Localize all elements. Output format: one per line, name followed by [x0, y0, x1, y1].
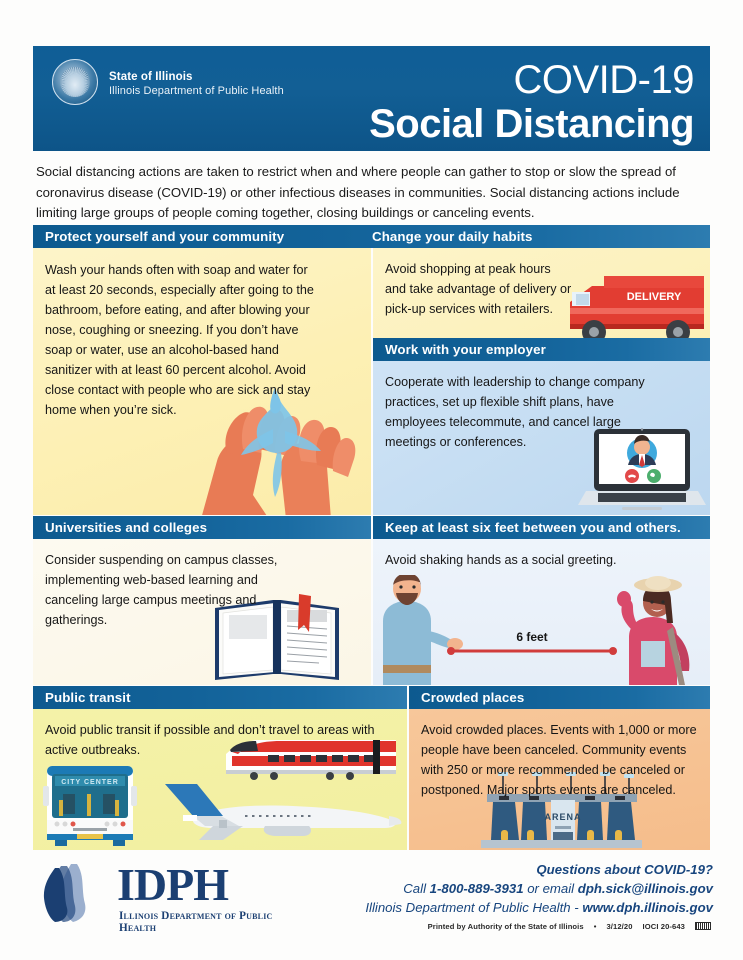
section-body-universities: Consider suspending on campus classes, i… — [45, 550, 300, 630]
page-title: COVID-19 Social Distancing — [369, 58, 694, 146]
section-heading-crowded: Crowded places — [421, 690, 524, 705]
contact-block: Questions about COVID-19? Call 1-800-889… — [365, 860, 713, 917]
contact-question: Questions about COVID-19? — [365, 860, 713, 879]
section-body-habits: Avoid shopping at peak hours and take ad… — [385, 259, 575, 319]
truck-delivery-label: DELIVERY — [627, 291, 682, 303]
section-heading-habits: Change your daily habits — [372, 229, 533, 244]
section-heading-transit: Public transit — [45, 690, 131, 705]
poster-page: State of Illinois Illinois Department of… — [0, 0, 743, 960]
title-line-1: COVID-19 — [369, 58, 694, 102]
poster-footer: IDPH Illinois Department of Public Healt… — [33, 860, 713, 955]
intro-paragraph: Social distancing actions are taken to r… — [36, 162, 714, 224]
section-header-bar-sixfeet: Keep at least six feet between you and o… — [373, 516, 710, 539]
two-people-distancing-icon: 6 feet — [373, 575, 710, 685]
section-header-bar-row1: Protect yourself and your community Chan… — [33, 225, 710, 248]
title-line-2: Social Distancing — [369, 102, 694, 146]
content-grid: Protect yourself and your community Chan… — [33, 225, 710, 850]
section-heading-universities: Universities and colleges — [45, 520, 207, 535]
section-header-bar-transit: Public transit — [33, 686, 407, 709]
print-authority-line: Printed by Authority of the State of Ill… — [418, 922, 711, 931]
state-of-illinois-seal-icon — [52, 59, 98, 105]
section-heading-employer: Work with your employer — [385, 342, 546, 357]
print-barcode-icon — [695, 922, 711, 930]
contact-dept-prefix: Illinois Department of Public Health - — [365, 900, 582, 915]
contact-call-prefix: Call — [403, 881, 429, 896]
section-body-crowded: Avoid crowded places. Events with 1,000 … — [421, 720, 706, 800]
contact-email-prefix: or email — [524, 881, 578, 896]
state-name: State of Illinois — [109, 70, 284, 84]
section-panel-crowded: Avoid crowded places. Events with 1,000 … — [409, 709, 710, 850]
section-panel-transit: Avoid public transit if possible and don… — [33, 709, 407, 850]
arena-label: ARENA — [544, 812, 581, 822]
section-body-protect: Wash your hands often with soap and wate… — [45, 260, 320, 420]
department-name: Illinois Department of Public Health — [109, 84, 284, 98]
bus-destination-label: CITY CENTER — [61, 779, 119, 786]
section-header-bar-employer: Work with your employer — [373, 338, 710, 361]
section-panel-universities: Consider suspending on campus classes, i… — [33, 539, 371, 685]
section-panel-employer: Cooperate with leadership to change comp… — [373, 361, 710, 515]
print-authority-text: Printed by Authority of the State of Ill… — [428, 922, 584, 931]
idph-subtitle: Illinois Department of Public Health — [119, 910, 297, 934]
section-panel-protect: Wash your hands often with soap and wate… — [33, 248, 371, 515]
contact-email-address[interactable]: dph.sick@illinois.gov — [578, 881, 713, 896]
idph-wordmark: IDPH — [117, 862, 228, 908]
section-heading-sixfeet: Keep at least six feet between you and o… — [385, 520, 681, 535]
agency-identity: State of Illinois Illinois Department of… — [109, 70, 284, 98]
section-body-employer: Cooperate with leadership to change comp… — [385, 372, 660, 452]
section-body-sixfeet: Avoid shaking hands as a social greeting… — [385, 550, 685, 570]
print-separator: • — [594, 922, 597, 931]
section-header-bar-crowded: Crowded places — [409, 686, 710, 709]
section-panel-habits: Avoid shopping at peak hours and take ad… — [373, 248, 710, 338]
print-date: 3/12/20 — [606, 922, 632, 931]
delivery-truck-icon: DELIVERY — [556, 268, 706, 338]
section-header-bar-universities: Universities and colleges — [33, 516, 371, 539]
poster-header: State of Illinois Illinois Department of… — [33, 46, 710, 151]
contact-phone-line: Call 1-800-889-3931 or email dph.sick@il… — [365, 879, 713, 898]
contact-website-line: Illinois Department of Public Health - w… — [365, 898, 713, 917]
section-panel-sixfeet: Avoid shaking hands as a social greeting… — [373, 539, 710, 685]
contact-website-url[interactable]: www.dph.illinois.gov — [582, 900, 713, 915]
print-code: IOCI 20-643 — [643, 922, 685, 931]
contact-phone-number[interactable]: 1-800-889-3931 — [430, 881, 524, 896]
section-body-transit: Avoid public transit if possible and don… — [45, 720, 375, 760]
six-feet-label: 6 feet — [516, 630, 547, 644]
idph-logo: IDPH Illinois Department of Public Healt… — [37, 862, 297, 924]
section-heading-protect: Protect yourself and your community — [45, 229, 284, 244]
illinois-map-icon — [37, 862, 113, 924]
